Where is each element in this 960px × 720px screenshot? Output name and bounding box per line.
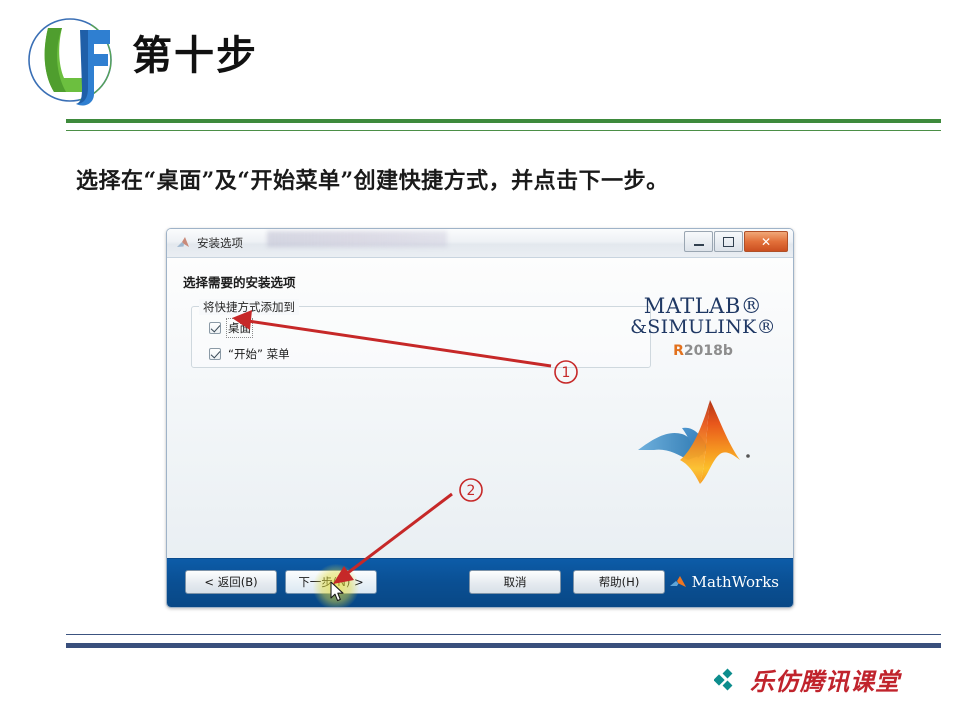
- footer-brand: 乐仿腾讯课堂: [714, 662, 900, 697]
- header-rule-thin: [66, 130, 941, 131]
- wordmark-simulink: &SIMULINK®: [627, 318, 779, 337]
- release-version: R2018b: [627, 344, 779, 358]
- mathworks-membrane-icon: [670, 575, 687, 590]
- footer-rule-thick: [66, 643, 941, 648]
- checkbox-desktop[interactable]: [209, 322, 221, 334]
- footer-rule-thin: [66, 634, 941, 635]
- instruction-text: 选择在“桌面”及“开始菜单”创建快捷方式，并点击下一步。: [76, 163, 669, 195]
- groupbox-label: 将快捷方式添加到: [199, 299, 299, 315]
- checkbox-label-desktop: 桌面: [228, 320, 251, 336]
- diamond-logo-icon: [714, 668, 742, 692]
- dialog-titlebar: 安装选项 ✕: [167, 229, 793, 258]
- dialog-button-bar: < 返回(B) 下一步(N) > 取消 帮助(H) MathWorks: [167, 558, 793, 607]
- maximize-button[interactable]: [714, 231, 743, 252]
- back-button[interactable]: < 返回(B): [185, 570, 277, 594]
- matlab-membrane-icon: [176, 236, 191, 251]
- titlebar-blur-smudge: [267, 231, 447, 247]
- header-rule-thick: [66, 119, 941, 123]
- maximize-icon: [723, 237, 734, 247]
- page-title: 第十步: [132, 36, 258, 76]
- checkbox-row-desktop[interactable]: 桌面: [209, 320, 251, 336]
- dialog-heading: 选择需要的安装选项: [183, 272, 296, 291]
- checkbox-row-startmenu[interactable]: “开始” 菜单: [209, 346, 290, 362]
- close-icon: ✕: [761, 235, 771, 249]
- dialog-body: 选择需要的安装选项 将快捷方式添加到 桌面 “开始” 菜单 MATLAB® &S…: [167, 258, 793, 582]
- mathworks-logo: MathWorks: [670, 573, 779, 591]
- cancel-button[interactable]: 取消: [469, 570, 561, 594]
- minimize-button[interactable]: [684, 231, 713, 252]
- dialog-title-text: 安装选项: [197, 235, 243, 251]
- matlab-membrane-graphic: [636, 398, 771, 523]
- close-button[interactable]: ✕: [744, 231, 788, 252]
- minimize-icon: [694, 244, 704, 246]
- installer-dialog: 安装选项 ✕ 选择需要的安装选项 将快捷方式添加到 桌面 “开始” 菜单 MAT…: [166, 228, 794, 608]
- slide-header: 第十步: [0, 0, 960, 135]
- mathworks-wordmark: MathWorks: [692, 573, 779, 591]
- wordmark-matlab: MATLAB®: [627, 296, 779, 317]
- help-button[interactable]: 帮助(H): [573, 570, 665, 594]
- release-r-mark: R: [673, 343, 684, 359]
- release-number: 2018b: [684, 343, 733, 359]
- next-button[interactable]: 下一步(N) >: [285, 570, 377, 594]
- checkbox-startmenu[interactable]: [209, 348, 221, 360]
- window-controls: ✕: [684, 231, 788, 252]
- lf-logo: [18, 14, 128, 109]
- checkbox-label-startmenu: “开始” 菜单: [228, 346, 290, 362]
- footer-brand-text: 乐仿腾讯课堂: [750, 662, 900, 697]
- matlab-simulink-wordmark: MATLAB® &SIMULINK® R2018b: [627, 296, 779, 358]
